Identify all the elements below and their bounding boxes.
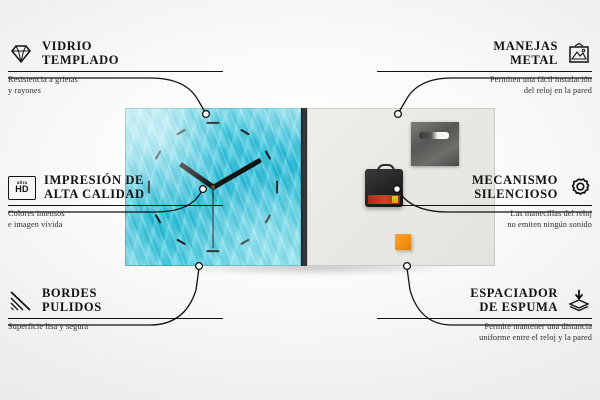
feature-head: MECANISMOSILENCIOSO bbox=[377, 174, 592, 201]
clock-tick bbox=[265, 214, 272, 224]
feature-description: Permite mantener una distanciauniforme e… bbox=[377, 322, 592, 343]
feature-rule bbox=[377, 71, 592, 72]
diamond-icon bbox=[8, 42, 34, 66]
ultra-hd-icon-main-text: HD bbox=[15, 185, 28, 194]
foam-spacer bbox=[395, 234, 411, 250]
feature-espaciador-de-espuma: ESPACIADORDE ESPUMA Permite mantener una… bbox=[377, 287, 592, 343]
feature-vidrio-templado: VIDRIOTEMPLADO Resistencia a grietasy ra… bbox=[8, 40, 223, 96]
feature-title: IMPRESIÓN DEALTA CALIDAD bbox=[44, 174, 145, 201]
gear-icon bbox=[566, 176, 592, 200]
feature-title: MECANISMOSILENCIOSO bbox=[472, 174, 558, 201]
ultra-hd-icon: ultra HD bbox=[8, 176, 36, 200]
feature-head: BORDESPULIDOS bbox=[8, 287, 223, 314]
foam-spacer-icon bbox=[566, 289, 592, 313]
feature-manejas-metal: MANEJASMETAL Permiten una fácil instalac… bbox=[377, 40, 592, 96]
hanger-slot bbox=[419, 132, 449, 139]
clock-tick bbox=[207, 122, 220, 124]
feature-description: Colores intensose imagen vívida bbox=[8, 209, 223, 230]
polished-edges-icon bbox=[8, 289, 34, 313]
feature-description: Superficie lisa y segura bbox=[8, 322, 223, 333]
feature-title: VIDRIOTEMPLADO bbox=[42, 40, 119, 67]
clock-tick bbox=[207, 250, 220, 252]
clock-tick bbox=[240, 128, 250, 135]
feature-head: ultra HD IMPRESIÓN DEALTA CALIDAD bbox=[8, 174, 223, 201]
clock-tick bbox=[265, 150, 272, 160]
metal-hanger-plate bbox=[411, 122, 459, 166]
clock-tick bbox=[154, 150, 161, 160]
feature-title: BORDESPULIDOS bbox=[42, 287, 102, 314]
feature-rule bbox=[8, 205, 223, 206]
feature-title: MANEJASMETAL bbox=[493, 40, 558, 67]
feature-description: Permiten una fácil instalacióndel reloj … bbox=[377, 75, 592, 96]
feature-mecanismo-silencioso: MECANISMOSILENCIOSO Las manecillas del r… bbox=[377, 174, 592, 230]
feature-title: ESPACIADORDE ESPUMA bbox=[470, 287, 558, 314]
feature-head: MANEJASMETAL bbox=[377, 40, 592, 67]
feature-rule bbox=[8, 318, 223, 319]
feature-description: Resistencia a grietasy rayones bbox=[8, 75, 223, 96]
feature-impresion-alta-calidad: ultra HD IMPRESIÓN DEALTA CALIDAD Colore… bbox=[8, 174, 223, 230]
clock-tick bbox=[176, 239, 186, 246]
clock-tick bbox=[176, 128, 186, 135]
feature-bordes-pulidos: BORDESPULIDOS Superficie lisa y segura bbox=[8, 287, 223, 333]
feature-rule bbox=[8, 71, 223, 72]
wall-frame-hanger-icon bbox=[566, 42, 592, 66]
infographic-canvas: VIDRIOTEMPLADO Resistencia a grietasy ra… bbox=[0, 0, 600, 400]
feature-head: ESPACIADORDE ESPUMA bbox=[377, 287, 592, 314]
clock-tick bbox=[240, 239, 250, 246]
feature-rule bbox=[377, 318, 592, 319]
feature-rule bbox=[377, 205, 592, 206]
mechanism-hook bbox=[377, 164, 395, 174]
feature-head: VIDRIOTEMPLADO bbox=[8, 40, 223, 67]
clock-tick bbox=[276, 181, 278, 194]
feature-description: Las manecillas del relojno emiten ningún… bbox=[377, 209, 592, 230]
